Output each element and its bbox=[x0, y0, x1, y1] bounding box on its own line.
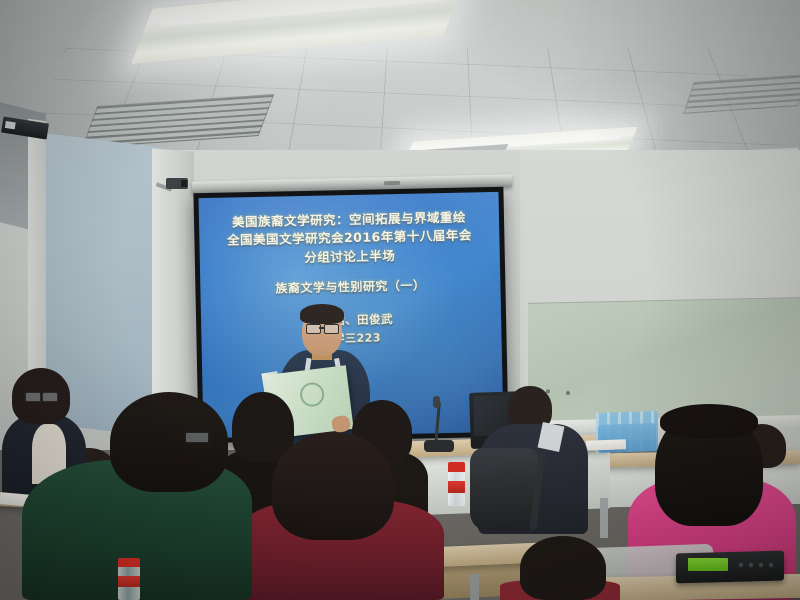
presenter-hair bbox=[300, 304, 344, 324]
av-control-panel-buttons bbox=[736, 560, 778, 569]
presenter-eyeglasses-right bbox=[324, 324, 339, 334]
handout-papers bbox=[586, 439, 626, 450]
bottle-cap-icon bbox=[118, 558, 140, 567]
attendee-eyeglasses-right bbox=[42, 392, 58, 402]
attendee-eyeglasses-left bbox=[25, 392, 41, 402]
bottle-label bbox=[118, 576, 140, 587]
chalkboard bbox=[528, 297, 800, 424]
bottle-cap-icon bbox=[448, 462, 465, 472]
bottle-label bbox=[448, 481, 465, 492]
desk-leg bbox=[470, 574, 479, 600]
av-control-panel-display bbox=[688, 558, 728, 571]
presenter-eyeglasses-left bbox=[306, 324, 321, 334]
desk-leg bbox=[600, 498, 608, 538]
slide-session-half: 分组讨论上半场 bbox=[304, 247, 395, 267]
attendee-maroon-sweater-head bbox=[272, 432, 394, 540]
attendee-green-coat-eyeglasses bbox=[185, 432, 209, 443]
attendee-glasses-left-hair bbox=[12, 368, 70, 424]
backpack bbox=[470, 448, 540, 530]
microphone-base bbox=[424, 440, 454, 452]
microphone-head-icon bbox=[433, 396, 440, 408]
board-tack-icon bbox=[566, 391, 570, 395]
conference-room-photo: 美国族裔文学研究：空间拓展与界域重绘 全国美国文学研究会2016年第十八届年会 … bbox=[0, 0, 800, 600]
security-camera-icon bbox=[166, 178, 188, 189]
presenter-eyeglasses-bridge bbox=[319, 327, 324, 329]
slide-panel-title: 族裔文学与性别研究（一） bbox=[275, 278, 425, 298]
slide-title-line2: 全国美国文学研究会2016年第十八届年会 bbox=[227, 226, 472, 249]
water-bottle bbox=[448, 462, 465, 506]
attendee-pink-coat-bangs bbox=[660, 404, 758, 438]
attendee-front-right-head bbox=[520, 536, 606, 600]
attendee-green-coat-head bbox=[110, 392, 228, 492]
water-bottle bbox=[118, 558, 140, 600]
